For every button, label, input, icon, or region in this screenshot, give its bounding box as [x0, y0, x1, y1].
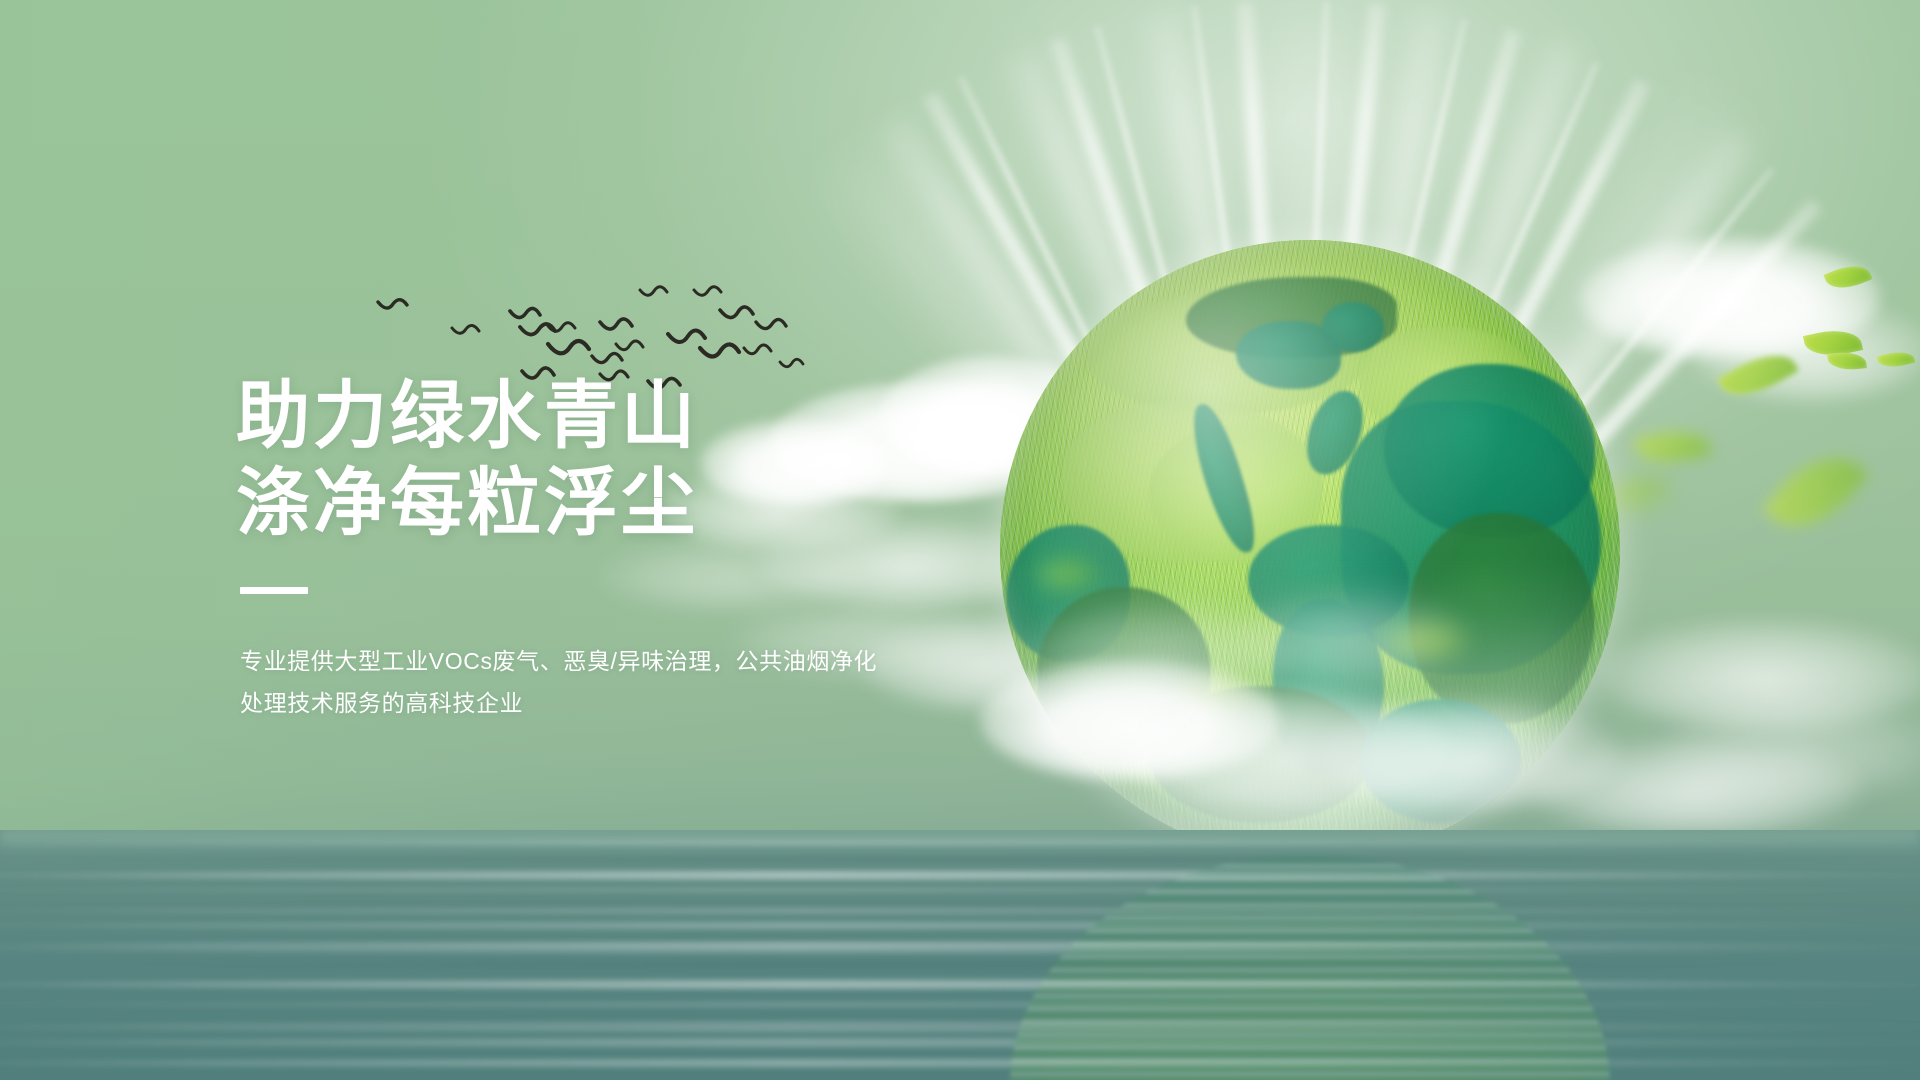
hero-copy: 助力绿水青山 涤净每粒浮尘 专业提供大型工业VOCs废气、恶臭/异味治理，公共油…	[236, 372, 996, 725]
page-title: 助力绿水青山 涤净每粒浮尘	[236, 372, 996, 547]
headline-line-1: 助力绿水青山	[236, 372, 996, 459]
hero-subtitle: 专业提供大型工业VOCs废气、恶臭/异味治理，公共油烟净化处理技术服务的高科技企…	[240, 640, 900, 725]
hero-banner: 助力绿水青山 涤净每粒浮尘 专业提供大型工业VOCs废气、恶臭/异味治理，公共油…	[0, 0, 1920, 1080]
earth-globe-icon	[1000, 240, 1620, 860]
water-surface	[0, 830, 1920, 1080]
title-divider	[240, 587, 308, 594]
globe-reflection	[1010, 855, 1610, 1080]
headline-line-2: 涤净每粒浮尘	[236, 459, 996, 546]
